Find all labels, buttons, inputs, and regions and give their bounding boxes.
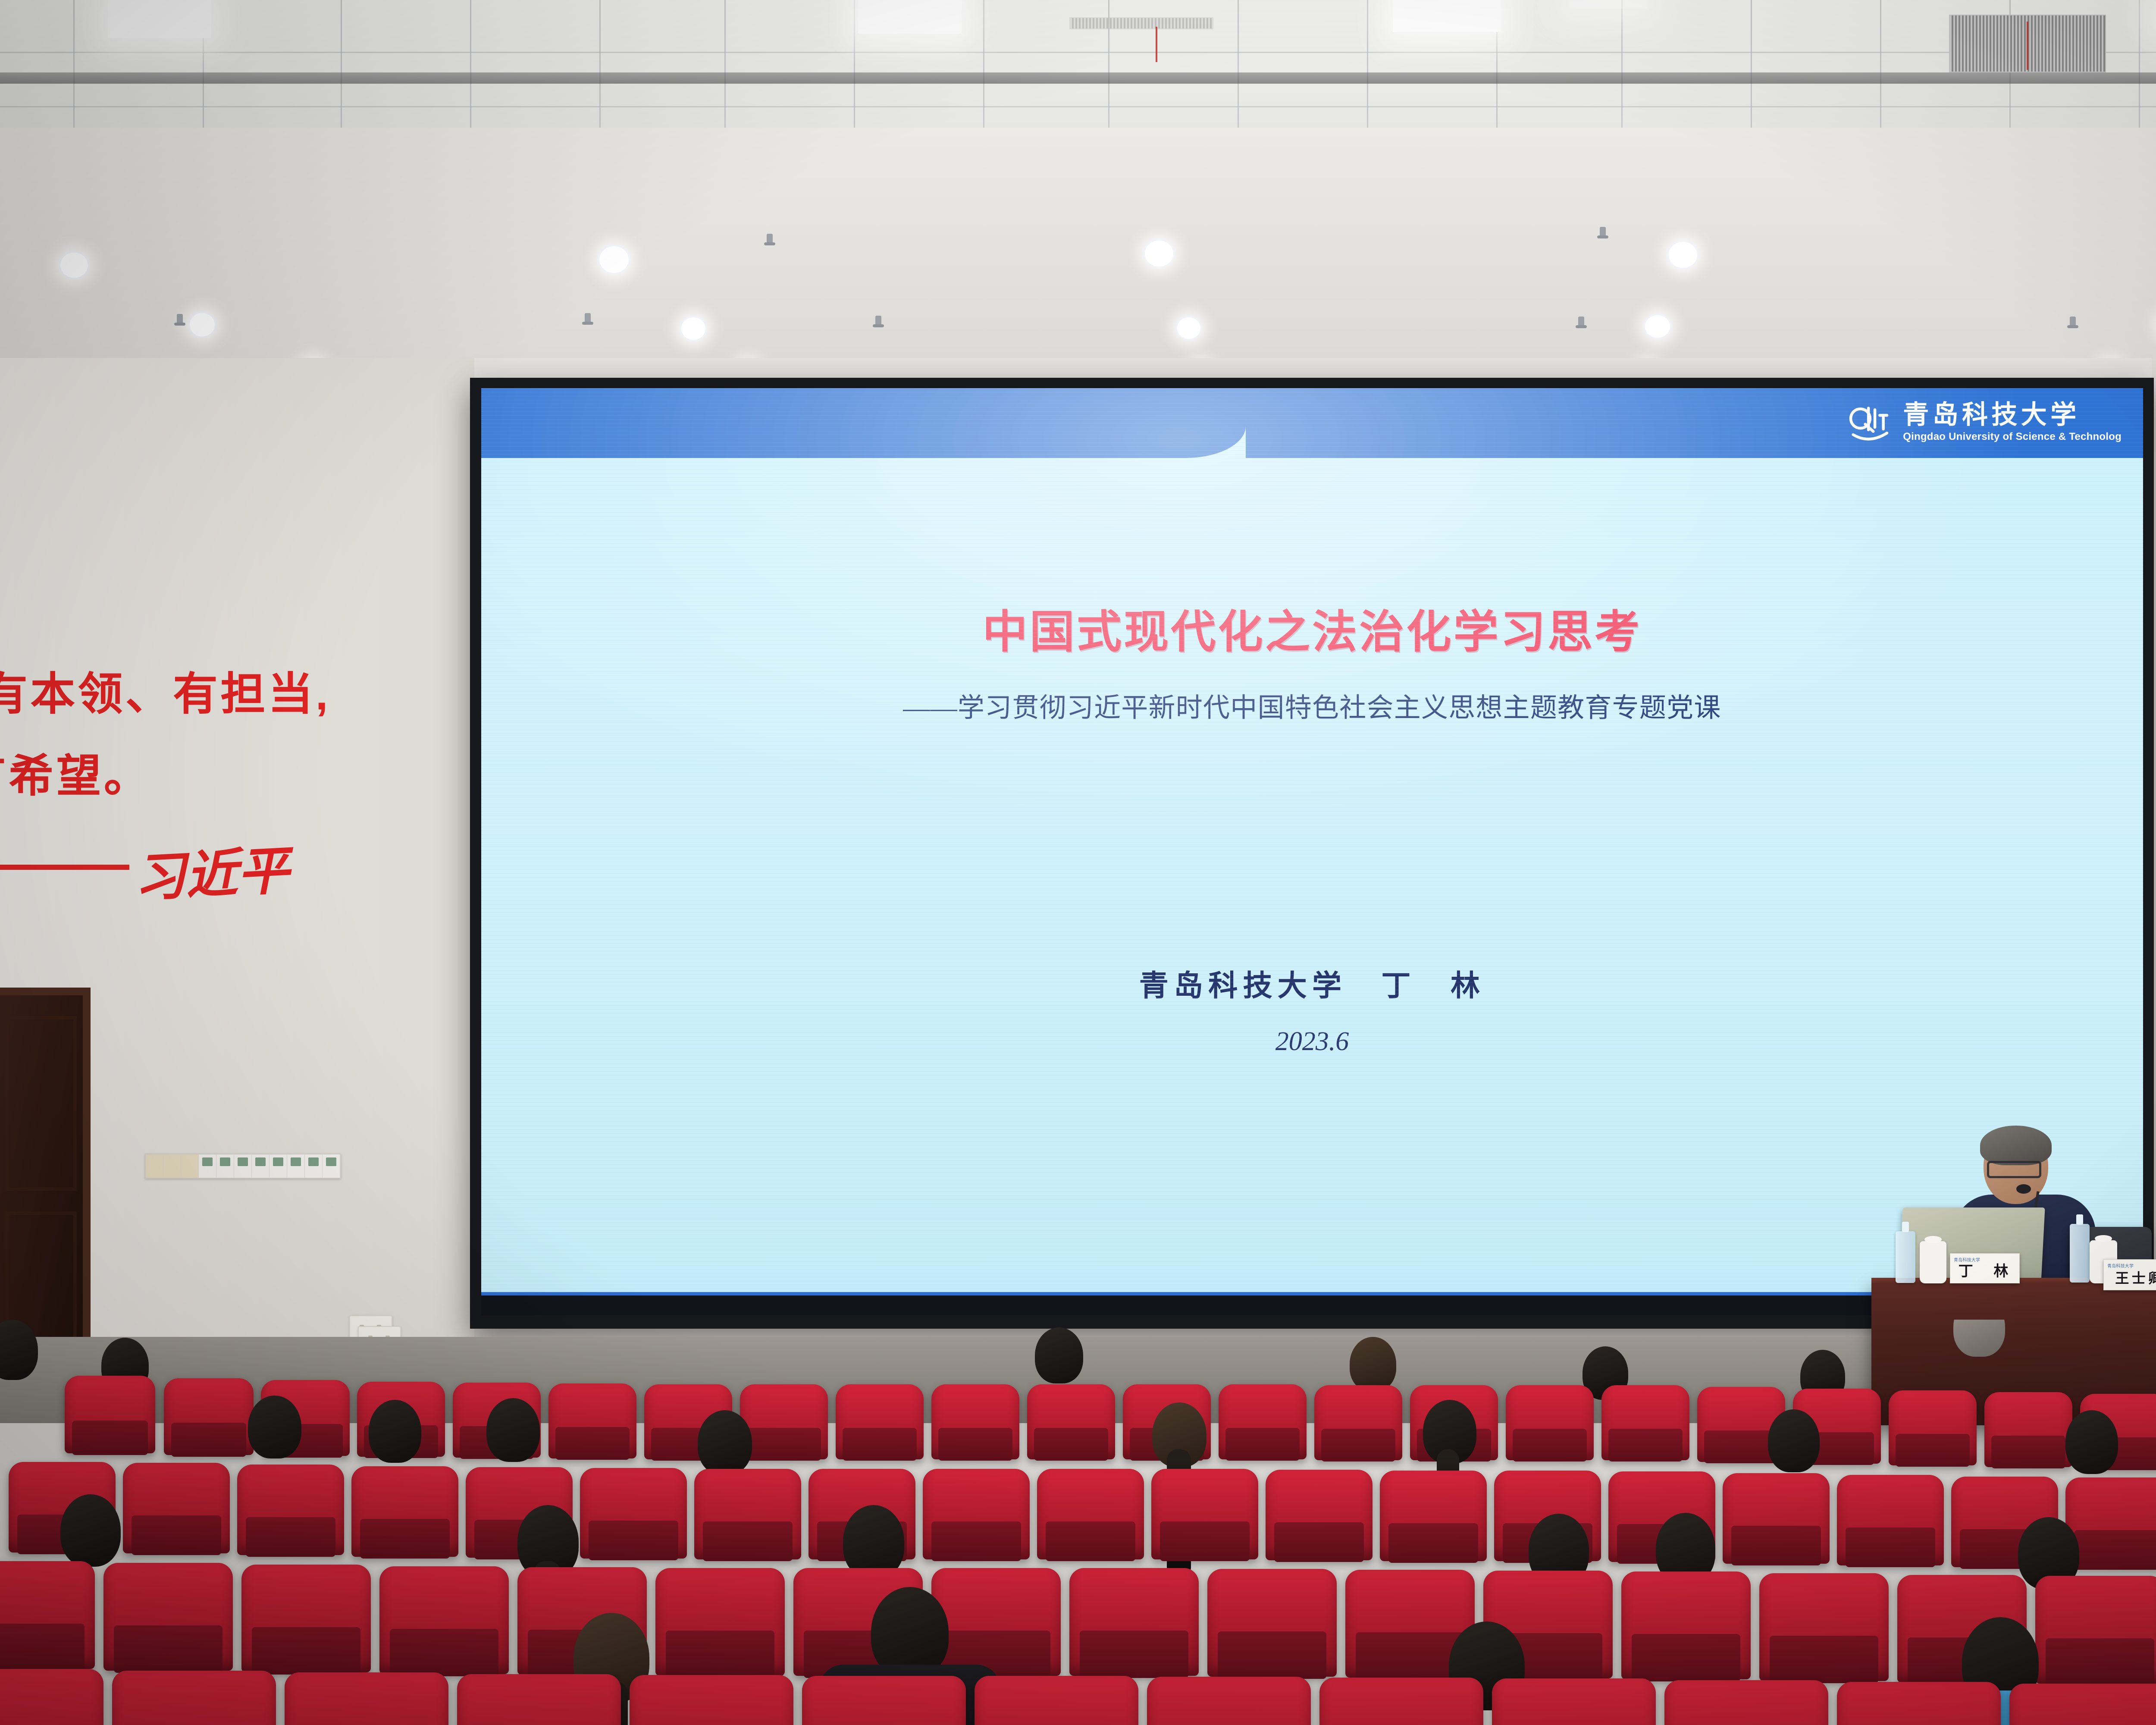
audience-seat[interactable]: [931, 1568, 1061, 1676]
audience-seat[interactable]: [1314, 1385, 1402, 1460]
audience-head: [1768, 1409, 1820, 1472]
sprinkler-icon: [767, 234, 773, 245]
ceiling-panel-light: [108, 0, 211, 38]
audience-seat[interactable]: [103, 1563, 233, 1671]
sprinkler-icon: [1600, 227, 1606, 238]
audience-seat[interactable]: [65, 1376, 155, 1453]
auditorium-photo: 有本领、有担当, 有希望。 习近平 人生的扣: [0, 0, 2156, 1725]
nameplate-name: 王士卿: [2115, 1267, 2156, 1287]
audience-seat[interactable]: [923, 1469, 1030, 1559]
ceiling-main-surface: [0, 128, 2156, 369]
audience-seat[interactable]: [1207, 1569, 1337, 1677]
wall-attribution-signature: 习近平: [132, 828, 291, 912]
ceiling-panel-light: [1393, 0, 1501, 32]
slide-title: 中国式现代化之法治化学习思考: [481, 595, 2143, 660]
audience-seat[interactable]: [123, 1463, 230, 1553]
slide-date: 2023.6: [481, 1026, 2143, 1057]
audience-head: [1035, 1327, 1083, 1383]
audience-head: [486, 1398, 540, 1462]
nameplate-org: 青岛科技大学: [2107, 1262, 2134, 1269]
audience-head: [1350, 1337, 1396, 1391]
nameplate-org: 青岛科技大学: [1954, 1256, 1980, 1263]
audience-seat[interactable]: [1506, 1385, 1594, 1460]
audience-seat[interactable]: [802, 1676, 966, 1725]
wall-attribution-rule: [0, 865, 129, 870]
presentation-screen[interactable]: 青岛科技大学 Qingdao University of Science & T…: [481, 388, 2143, 1315]
sprinkler-icon: [875, 316, 881, 327]
audience-seat[interactable]: [1837, 1682, 2001, 1725]
audience-seat[interactable]: [1759, 1573, 1889, 1681]
audience-seat[interactable]: [237, 1465, 344, 1555]
downlight-icon: [1645, 315, 1670, 338]
audience-seat[interactable]: [457, 1674, 621, 1725]
audience-head: [60, 1494, 121, 1567]
tea-cup[interactable]: [1920, 1241, 1946, 1283]
water-bottle[interactable]: [2070, 1224, 2090, 1283]
audience-seat[interactable]: [1219, 1384, 1307, 1459]
audience-seat[interactable]: [112, 1671, 276, 1725]
audience-seat[interactable]: [379, 1566, 509, 1674]
audience-seat[interactable]: [2009, 1684, 2156, 1725]
audience-head: [698, 1410, 752, 1475]
ceiling-red-marker: [2027, 22, 2028, 70]
ceiling-panel-light: [1570, 0, 1647, 9]
water-bottle[interactable]: [1896, 1231, 1915, 1283]
screen-scanlines: [481, 388, 2143, 1315]
audience-seat[interactable]: [836, 1384, 924, 1459]
logo-name-en: Qingdao University of Science & Technolo…: [1903, 432, 2122, 442]
audience-seat[interactable]: [1037, 1469, 1144, 1559]
ceiling-tile-grid: [0, 0, 2156, 129]
ceiling-air-vent: [1069, 17, 1213, 29]
qust-mark-icon: [1845, 398, 1893, 446]
sprinkler-icon: [2070, 317, 2076, 328]
audience-seat[interactable]: [1027, 1384, 1115, 1459]
audience-seating: [0, 1320, 2156, 1725]
audience-seat[interactable]: [241, 1565, 371, 1672]
audience-seat[interactable]: [1837, 1475, 1944, 1565]
slide-author: 青岛科技大学 丁 林: [481, 962, 2143, 1004]
audience-seat[interactable]: [1889, 1390, 1977, 1465]
audience-seat[interactable]: [694, 1469, 801, 1559]
audience-head: [871, 1587, 949, 1678]
audience-seat[interactable]: [1147, 1677, 1311, 1725]
downlight-icon: [190, 313, 215, 336]
ceiling-panel-light: [858, 0, 962, 34]
audience-seat[interactable]: [1621, 1571, 1751, 1679]
nameplate: 青岛科技大学 丁 林: [1950, 1253, 2020, 1283]
downlight-icon: [681, 317, 705, 340]
light-switch-bank[interactable]: [145, 1154, 341, 1179]
wall-slogan-left-line1: 有本领、有担当,: [0, 664, 331, 724]
nameplate: 青岛科技大学 王士卿: [2103, 1259, 2156, 1290]
audience-seat[interactable]: [1664, 1680, 1828, 1725]
audience-head: [0, 1320, 38, 1380]
audience-seat[interactable]: [164, 1378, 254, 1455]
audience-head: [248, 1396, 301, 1458]
downlight-icon: [1669, 242, 1697, 268]
audience-seat[interactable]: [1492, 1678, 1656, 1725]
audience-seat[interactable]: [1601, 1385, 1689, 1460]
wall-slogan-left-line2: 有希望。: [0, 746, 151, 806]
downlight-icon: [599, 246, 629, 273]
ceiling-edge-shadow: [0, 72, 2156, 84]
ceiling-red-marker: [1156, 27, 1157, 62]
audience-seat[interactable]: [1266, 1470, 1373, 1560]
sprinkler-icon: [585, 313, 591, 324]
audience-seat[interactable]: [1380, 1471, 1487, 1561]
audience-head: [843, 1505, 904, 1578]
glasses-icon: [1987, 1161, 2041, 1178]
audience-seat[interactable]: [1319, 1678, 1483, 1725]
sprinkler-icon: [177, 314, 183, 325]
audience-head: [1953, 1320, 2005, 1357]
audience-head: [2065, 1410, 2118, 1474]
slide-subtitle: ——学习贯彻习近平新时代中国特色社会主义思想主题教育专题党课: [481, 686, 2143, 724]
sprinkler-icon: [1578, 317, 1584, 328]
audience-seat[interactable]: [1151, 1469, 1258, 1559]
audience-seat[interactable]: [740, 1384, 828, 1459]
audience-seat[interactable]: [1984, 1392, 2072, 1467]
audience-seat[interactable]: [931, 1384, 1019, 1459]
audience-seat[interactable]: [655, 1568, 785, 1676]
microphone-icon: [2016, 1184, 2031, 1194]
audience-seat[interactable]: [580, 1468, 687, 1559]
university-logo: 青岛科技大学 Qingdao University of Science & T…: [1845, 398, 2122, 446]
audience-seat[interactable]: [630, 1675, 793, 1725]
audience-seat[interactable]: [1723, 1473, 1830, 1564]
downlight-icon: [60, 253, 88, 278]
audience-seat[interactable]: [0, 1561, 95, 1669]
downlight-icon: [1177, 317, 1200, 339]
audience-seat[interactable]: [2035, 1576, 2156, 1684]
downlight-icon: [1145, 241, 1173, 267]
audience-seat[interactable]: [285, 1672, 448, 1725]
presenter-hair: [1980, 1126, 2052, 1165]
audience-seat[interactable]: [0, 1669, 103, 1725]
audience-seat[interactable]: [975, 1676, 1138, 1725]
audience-seat[interactable]: [548, 1383, 636, 1458]
logo-name-cn: 青岛科技大学: [1903, 402, 2122, 428]
audience-seat[interactable]: [1069, 1568, 1199, 1676]
audience-head: [369, 1400, 421, 1463]
audience-seat[interactable]: [351, 1466, 458, 1557]
